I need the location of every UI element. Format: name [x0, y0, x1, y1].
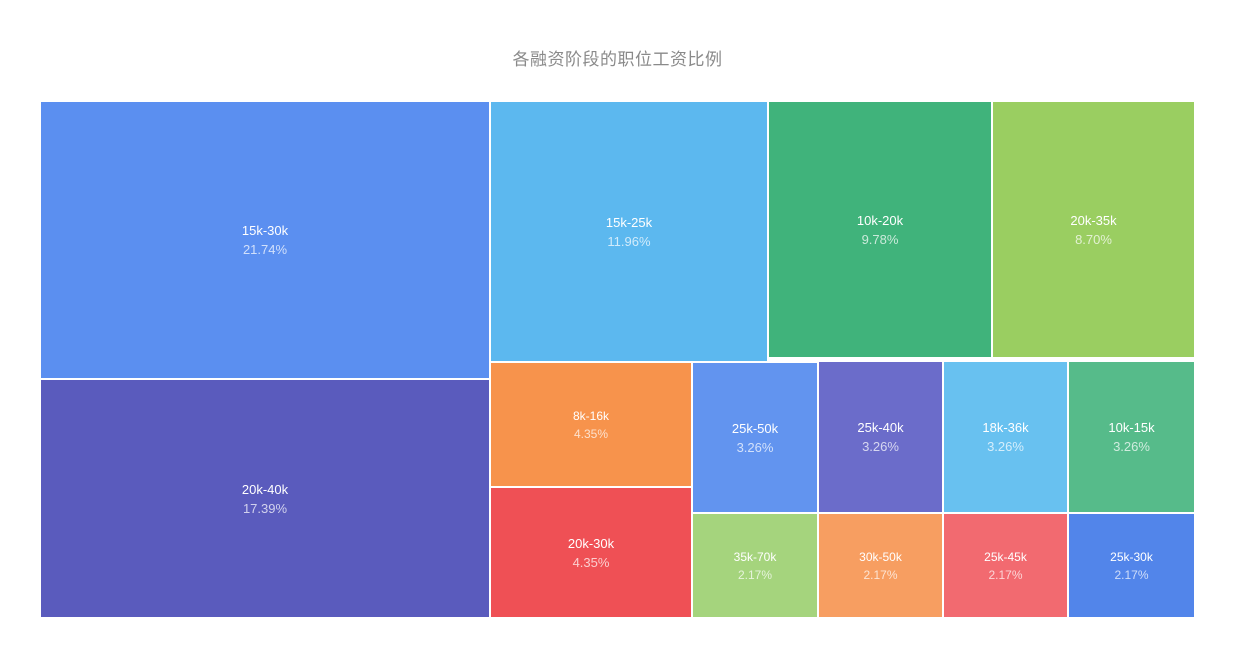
treemap-cell-label: 35k-70k: [734, 548, 777, 566]
treemap-cell-label: 15k-30k: [242, 221, 288, 240]
treemap-cell-label: 18k-36k: [982, 418, 1028, 437]
treemap-cell[interactable]: 15k-25k11.96%: [490, 101, 768, 362]
treemap-plot-area: 15k-30k21.74%20k-40k17.39%15k-25k11.96%1…: [40, 101, 1195, 618]
treemap-cell[interactable]: 20k-40k17.39%: [40, 379, 490, 618]
treemap-cell[interactable]: 18k-36k3.26%: [943, 361, 1068, 513]
treemap-cell-value: 4.35%: [573, 553, 610, 572]
chart-title: 各融资阶段的职位工资比例: [0, 48, 1235, 72]
treemap-cell[interactable]: 30k-50k2.17%: [818, 513, 943, 618]
treemap-cell-value: 2.17%: [863, 566, 897, 584]
treemap-cell-value: 3.26%: [862, 437, 899, 456]
treemap-cell-label: 25k-30k: [1110, 548, 1153, 566]
treemap-cell-label: 30k-50k: [859, 548, 902, 566]
treemap-cell-label: 8k-16k: [573, 407, 609, 425]
treemap-cell-label: 15k-25k: [606, 213, 652, 232]
treemap-cell[interactable]: 35k-70k2.17%: [692, 513, 818, 618]
treemap-cell-label: 25k-45k: [984, 548, 1027, 566]
treemap-cell[interactable]: 25k-50k3.26%: [692, 362, 818, 513]
treemap-cell-label: 20k-35k: [1070, 211, 1116, 230]
treemap-cell-value: 4.35%: [574, 425, 608, 443]
treemap-cell-value: 17.39%: [243, 499, 287, 518]
treemap-cell-label: 25k-40k: [857, 418, 903, 437]
treemap-cell-label: 20k-30k: [568, 534, 614, 553]
treemap-cell[interactable]: 10k-20k9.78%: [768, 101, 992, 358]
treemap-cell-value: 3.26%: [987, 437, 1024, 456]
treemap-cell[interactable]: 15k-30k21.74%: [40, 101, 490, 379]
treemap-cell-value: 21.74%: [243, 240, 287, 259]
treemap-cell[interactable]: 25k-30k2.17%: [1068, 513, 1195, 618]
treemap-cell[interactable]: 25k-45k2.17%: [943, 513, 1068, 618]
treemap-cell[interactable]: 25k-40k3.26%: [818, 361, 943, 513]
treemap-cell-value: 3.26%: [737, 438, 774, 457]
treemap-cell-value: 2.17%: [988, 566, 1022, 584]
treemap-chart: 各融资阶段的职位工资比例 15k-30k21.74%20k-40k17.39%1…: [0, 0, 1235, 654]
treemap-cell-value: 2.17%: [1114, 566, 1148, 584]
treemap-cell-label: 10k-20k: [857, 211, 903, 230]
treemap-cell-label: 20k-40k: [242, 480, 288, 499]
treemap-cell[interactable]: 20k-35k8.70%: [992, 101, 1195, 358]
treemap-cell[interactable]: 10k-15k3.26%: [1068, 361, 1195, 513]
treemap-cell-value: 2.17%: [738, 566, 772, 584]
treemap-cell-value: 9.78%: [862, 230, 899, 249]
treemap-cell-label: 10k-15k: [1108, 418, 1154, 437]
treemap-cell[interactable]: 20k-30k4.35%: [490, 487, 692, 618]
treemap-cell[interactable]: 8k-16k4.35%: [490, 362, 692, 487]
treemap-cell-value: 11.96%: [607, 232, 650, 251]
treemap-cell-value: 8.70%: [1075, 230, 1112, 249]
treemap-cell-value: 3.26%: [1113, 437, 1150, 456]
treemap-cell-label: 25k-50k: [732, 419, 778, 438]
